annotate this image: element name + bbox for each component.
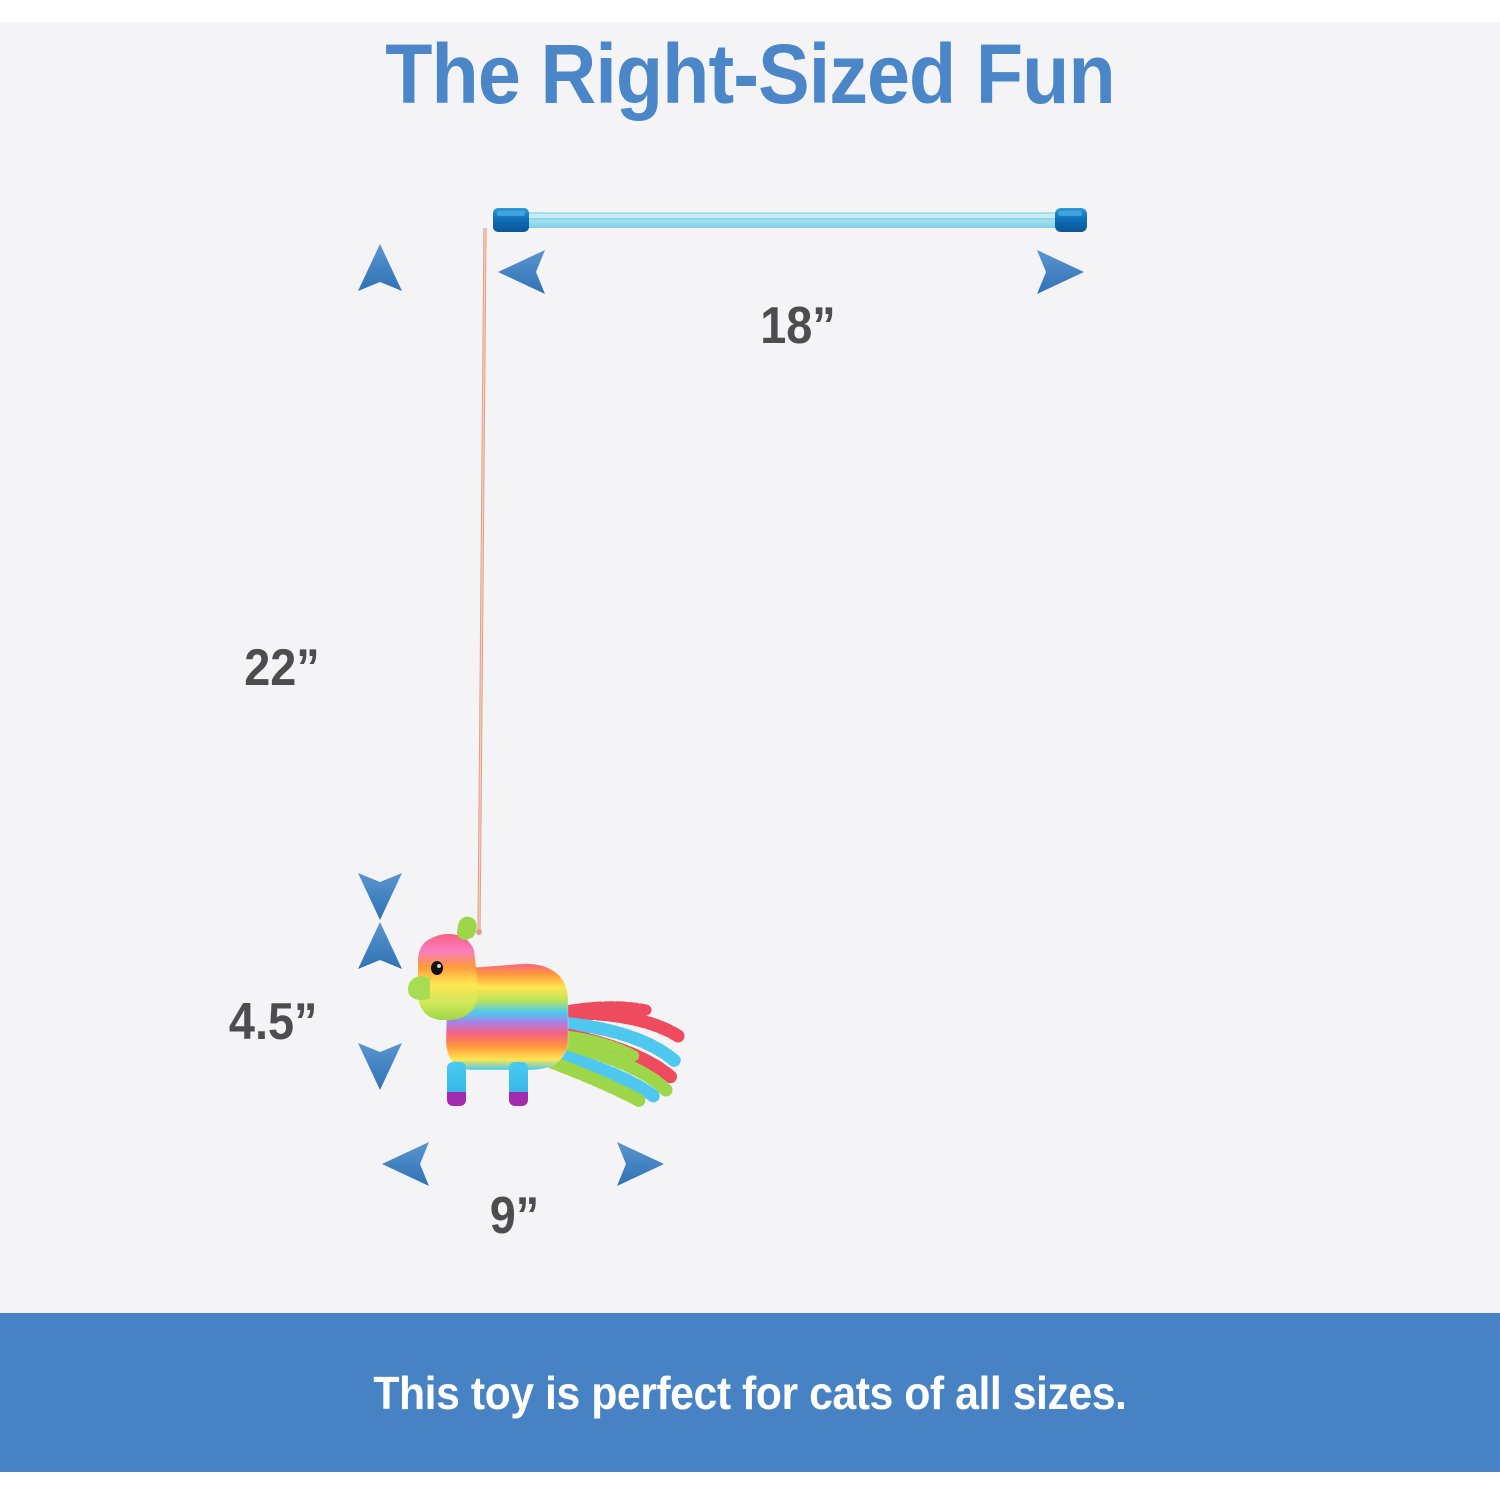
dimension-label-22in: 22” xyxy=(244,638,319,698)
dimension-label-18in: 18” xyxy=(760,296,835,356)
dimension-label-9in: 9” xyxy=(490,1186,539,1246)
product-dimension-infographic: The Right-Sized Fun xyxy=(0,0,1500,1500)
dimension-label-4-5in: 4.5” xyxy=(229,992,317,1052)
page-title: The Right-Sized Fun xyxy=(60,26,1440,122)
footer-banner: This toy is perfect for cats of all size… xyxy=(0,1313,1500,1472)
footer-caption: This toy is perfect for cats of all size… xyxy=(373,1366,1126,1420)
content-panel xyxy=(0,22,1500,1313)
